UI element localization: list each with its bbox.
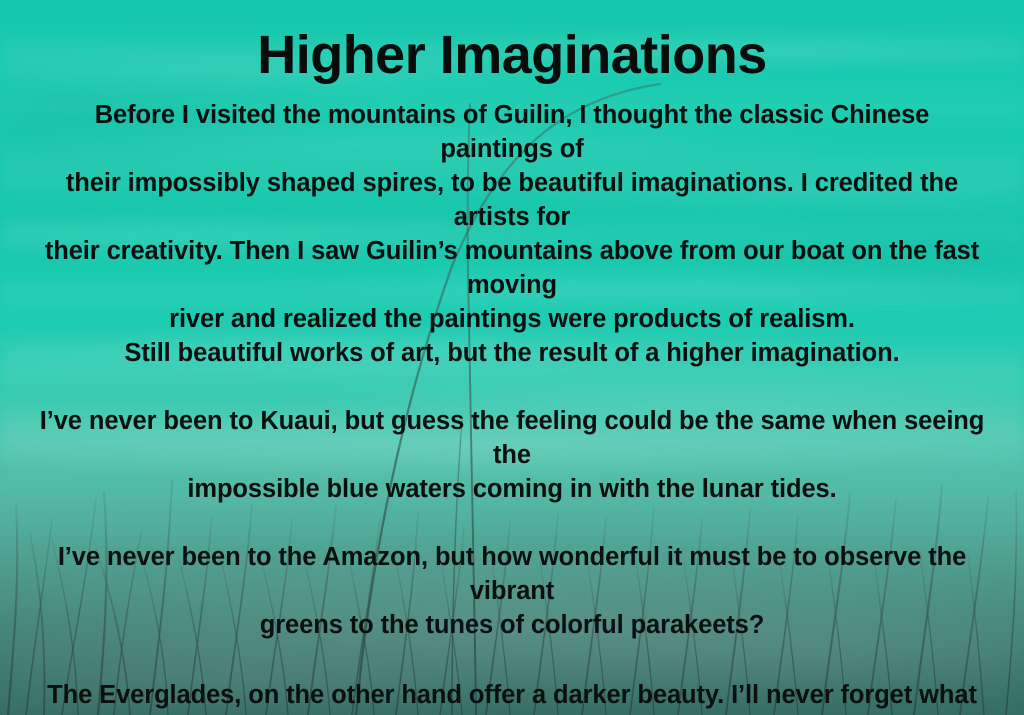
paragraph-line: The Everglades, on the other hand offer …: [38, 678, 986, 715]
paragraph-line: I’ve never been to Kuaui, but guess the …: [38, 404, 986, 472]
paragraph-line: Still beautiful works of art, but the re…: [38, 336, 986, 370]
paragraph-line: Before I visited the mountains of Guilin…: [38, 98, 986, 166]
paragraph-line: impossible blue waters coming in with th…: [38, 472, 986, 506]
page-title: Higher Imaginations: [0, 0, 1024, 84]
paragraph-line: river and realized the paintings were pr…: [38, 302, 986, 336]
paragraph-everglades: The Everglades, on the other hand offer …: [38, 678, 986, 715]
paragraph-line: greens to the tunes of colorful parakeet…: [38, 608, 986, 642]
paragraph-line: I’ve never been to the Amazon, but how w…: [38, 540, 986, 608]
paragraph-kuaui: I’ve never been to Kuaui, but guess the …: [38, 404, 986, 506]
paragraph-spacer: [0, 506, 1024, 540]
poster-canvas: Higher Imaginations Before I visited the…: [0, 0, 1024, 715]
paragraph-amazon: I’ve never been to the Amazon, but how w…: [38, 540, 986, 642]
paragraph-line: their impossibly shaped spires, to be be…: [38, 166, 986, 234]
paragraph-line: their creativity. Then I saw Guilin’s mo…: [38, 234, 986, 302]
poster-content: Higher Imaginations Before I visited the…: [0, 0, 1024, 715]
paragraph-spacer: [0, 370, 1024, 404]
paragraph-guilin: Before I visited the mountains of Guilin…: [38, 98, 986, 370]
paragraph-spacer: [0, 642, 1024, 678]
